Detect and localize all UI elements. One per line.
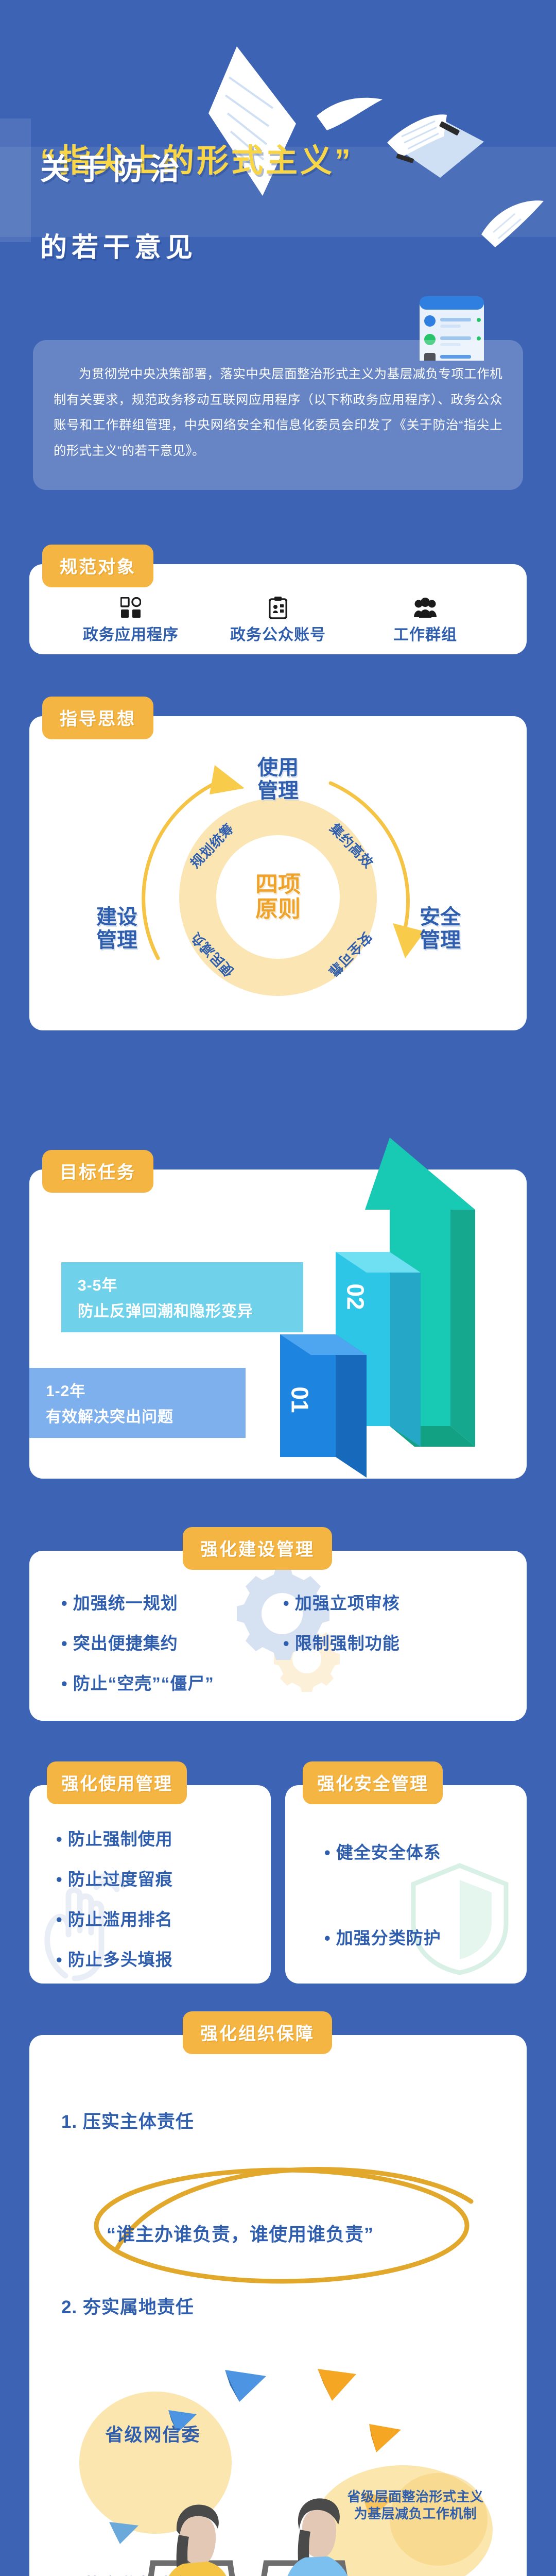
step-number-02: 02	[342, 1283, 370, 1310]
intro-card: 为贯彻党中央决策部署，落实中央层面整治形式主义为基层减负专项工作机制有关要求，规…	[33, 340, 523, 490]
section-tag-objects: 规范对象	[42, 545, 153, 587]
build-item-1: 加强统一规划	[29, 1589, 278, 1614]
object-label-accounts: 政务公众账号	[214, 622, 342, 645]
use-item-1: 防止强制使用	[29, 1825, 271, 1850]
four-principles-wheel: 四项 原则 规划统筹 集约高效 安全可靠 便民减负 使用 管理 建设 管理 安全…	[29, 716, 527, 1030]
build-item-2: 突出便捷集约	[29, 1630, 278, 1654]
use-management-column: 强化使用管理 防止强制使用 防止过度	[29, 1785, 271, 1984]
security-item-2: 加强分类防护	[285, 1924, 527, 1949]
guiding-card: 四项 原则 规划统筹 集约高效 安全可靠 便民减负 使用 管理 建设 管理 安全…	[29, 716, 527, 1030]
paper-curl-icon	[479, 198, 546, 250]
section-tag-build-mgmt: 强化建设管理	[183, 1527, 332, 1570]
build-item-3: 防止“空壳”“僵尸”	[29, 1670, 278, 1694]
goal-01-years: 1-2年	[46, 1378, 232, 1401]
object-item-groups[interactable]: 工作群组	[361, 597, 490, 645]
wheel-core-line2: 原则	[255, 897, 301, 922]
section-goals-tasks: 目标任务 3-5年 防止反弹回潮和隐形变异 1-2年 有效解决突出问题	[29, 1170, 527, 1479]
organization-card: 1. 压实主体责任 “谁主办谁负责，谁使用谁负责” 2. 夯实属地责任	[29, 2035, 527, 2576]
wheel-label-use-management: 使用 管理	[234, 756, 322, 803]
use-mgmt-list: 防止强制使用 防止过度留痕 防止滥用排名 防止多头填报	[29, 1785, 271, 1971]
wheel-label-security-management: 安全 管理	[396, 906, 484, 952]
section-tag-security-mgmt: 强化安全管理	[303, 1761, 443, 1804]
goal-01-desc: 有效解决突出问题	[46, 1404, 232, 1427]
objects-row: 政务应用程序 政务公众账号	[29, 597, 527, 645]
goal-02-desc: 防止反弹回潮和隐形变异	[78, 1298, 290, 1321]
pair-row: 强化使用管理 防止强制使用 防止过度	[29, 1785, 527, 1984]
section-guiding-ideology: 指导思想 四项 原则	[29, 716, 527, 1030]
security-item-1: 健全安全体系	[285, 1839, 527, 1863]
object-item-apps[interactable]: 政务应用程序	[66, 597, 195, 645]
org-quote: “谁主办谁负责，谁使用谁负责”	[107, 2219, 374, 2246]
handshake-scene-graphic	[60, 2365, 503, 2576]
section-tag-organization: 强化组织保障	[183, 2011, 332, 2054]
use-mgmt-card: 防止强制使用 防止过度留痕 防止滥用排名 防止多头填报	[29, 1785, 271, 1984]
section-tag-guiding: 指导思想	[42, 697, 153, 739]
user-group-icon	[361, 597, 490, 619]
section-build-management: 强化建设管理 加强统一规划 加强立项审核 突出便捷集约 限制强制功能 防止“空壳…	[29, 1551, 527, 1721]
wheel-label-build-management: 建设 管理	[73, 906, 161, 952]
section-organizational-guarantee: 强化组织保障 1. 压实主体责任 “谁主办谁负责，谁使用谁负责” 2. 夯实属地…	[29, 2035, 527, 2576]
bubble-provincial-committee: 省级网信委	[76, 2424, 230, 2447]
org-heading-2: 2. 夯实属地责任	[61, 2293, 194, 2319]
goal-bar-01: 1-2年 有效解决突出问题	[29, 1368, 246, 1438]
build-mgmt-bullet-grid: 加强统一规划 加强立项审核 突出便捷集约 限制强制功能 防止“空壳”“僵尸”	[29, 1551, 527, 1694]
build-item-4: 加强立项审核	[278, 1589, 527, 1614]
section-tag-use-mgmt: 强化使用管理	[47, 1761, 187, 1804]
clipboard-account-icon	[214, 597, 342, 619]
goals-card: 3-5年 防止反弹回潮和隐形变异 1-2年 有效解决突出问题 02 01	[29, 1170, 527, 1479]
paper-sliver-icon	[317, 95, 384, 131]
object-label-groups: 工作群组	[361, 622, 490, 645]
title-line-1: 关于防治	[40, 155, 186, 184]
hero-banner: 关于防治 “指尖上的形式主义” 的若干意见	[0, 0, 556, 361]
title-line-3: 的若干意见	[40, 234, 197, 261]
apps-grid-icon	[66, 597, 195, 619]
org-heading-1: 1. 压实主体责任	[61, 2107, 194, 2133]
section-regulation-objects: 规范对象 政务应用程序	[29, 564, 527, 654]
infographic-page: 关于防治 “指尖上的形式主义” 的若干意见 为贯彻党中央决策部署，落实中央层面整…	[0, 0, 556, 2576]
section-tag-goals: 目标任务	[42, 1150, 153, 1193]
goal-02-years: 3-5年	[78, 1273, 290, 1295]
wheel-core: 四项 原则	[229, 848, 327, 946]
security-management-column: 强化安全管理 健全安全体系 加强分类防护	[285, 1785, 527, 1984]
step-number-01: 01	[286, 1386, 314, 1413]
build-mgmt-card: 加强统一规划 加强立项审核 突出便捷集约 限制强制功能 防止“空壳”“僵尸”	[29, 1551, 527, 1721]
paper-with-pen-icon	[381, 100, 489, 183]
object-item-accounts[interactable]: 政务公众账号	[214, 597, 342, 645]
hero-title-line3-wrap: 的若干意见	[40, 234, 197, 261]
hero-title-block: 关于防治	[40, 155, 186, 184]
security-mgmt-list: 健全安全体系 加强分类防护	[285, 1785, 527, 1949]
use-item-2: 防止过度留痕	[29, 1866, 271, 1890]
object-label-apps: 政务应用程序	[66, 622, 195, 645]
intro-paragraph: 为贯彻党中央决策部署，落实中央层面整治形式主义为基层减负专项工作机制有关要求，规…	[54, 362, 502, 464]
bubble-provincial-mechanism: 省级层面整治形式主义 为基层减负工作机制	[320, 2488, 511, 2523]
security-mgmt-card: 健全安全体系 加强分类防护	[285, 1785, 527, 1984]
use-item-4: 防止多头填报	[29, 1946, 271, 1971]
goal-bar-02: 3-5年 防止反弹回潮和隐形变异	[61, 1262, 303, 1332]
wheel-core-line1: 四项	[255, 872, 301, 897]
use-item-3: 防止滥用排名	[29, 1906, 271, 1930]
build-item-5: 限制强制功能	[278, 1630, 527, 1654]
org-heading-3: 3. 落实监督责任	[61, 2571, 194, 2576]
section-use-and-security: 强化使用管理 防止强制使用 防止过度	[29, 1785, 527, 1984]
